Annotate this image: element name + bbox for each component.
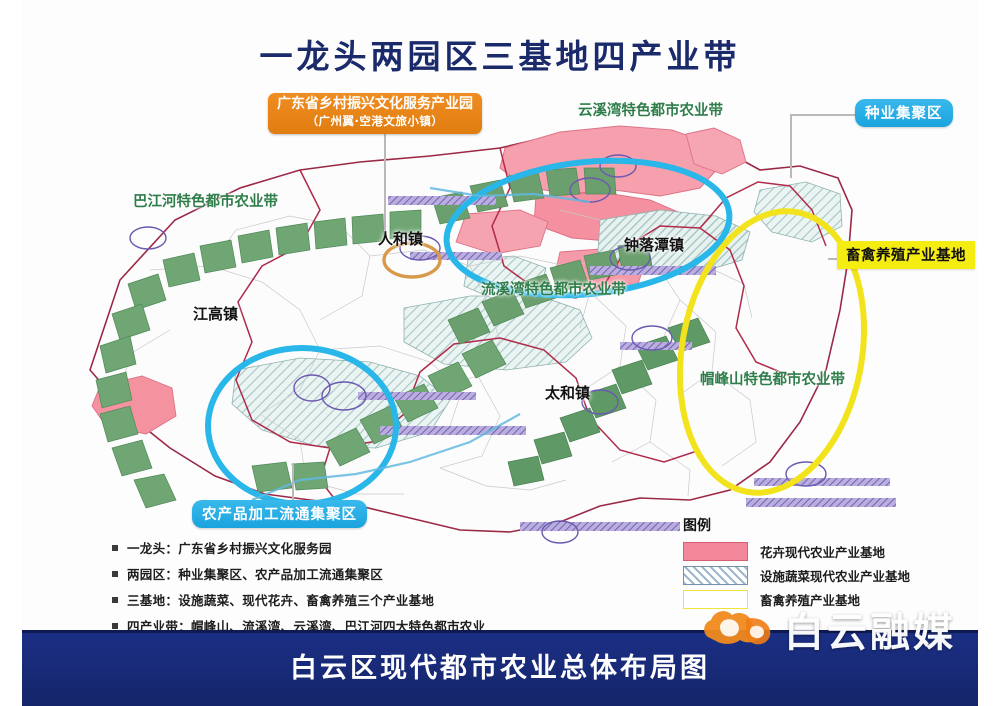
- culture-park-sub: （广州翼·空港文旅小镇）: [277, 114, 473, 129]
- right-bleed-edge: [978, 0, 1000, 706]
- town-label-jianggao: 江高镇: [193, 303, 238, 324]
- legend-title: 图例: [683, 515, 910, 535]
- town-label-zhongluotan: 钟落潭镇: [624, 234, 684, 255]
- town-label-renhe: 人和镇: [378, 228, 423, 249]
- baiyun-cloud-logo-icon: [700, 603, 778, 655]
- legend-item: 花卉现代农业产业基地: [683, 542, 910, 561]
- bullet-square-icon: [112, 597, 118, 603]
- map-poster: 一龙头两园区三基地四产业带: [0, 0, 1000, 706]
- callout-livestock-base[interactable]: 畜禽养殖产业基地: [837, 241, 975, 269]
- callout-belt-yunxiwan: 云溪湾特色都市农业带: [578, 99, 723, 120]
- leader-line-seed-zone-v: [790, 114, 792, 178]
- callout-culture-park[interactable]: 广东省乡村振兴文化服务产业园 （广州翼·空港文旅小镇）: [268, 93, 482, 134]
- town-label-taihe: 太和镇: [545, 382, 590, 403]
- callout-processing-zone[interactable]: 农产品加工流通集聚区: [192, 500, 367, 528]
- bullet-square-icon: [112, 623, 118, 629]
- callout-belt-bajianghe: 巴江河特色都市农业带: [133, 190, 278, 211]
- bullet-text: 三基地：设施蔬菜、现代花卉、畜禽养殖三个产业基地: [127, 590, 434, 609]
- watermark: 白云融媒: [700, 600, 956, 658]
- bullet-item: 三基地：设施蔬菜、现代花卉、畜禽养殖三个产业基地: [112, 590, 485, 609]
- leader-line-culture-park: [384, 124, 386, 240]
- legend-swatch-vegetable: [683, 566, 748, 585]
- summary-bullet-list: 一龙头：广东省乡村振兴文化服务园 两园区：种业集聚区、农产品加工流通集聚区 三基…: [112, 538, 485, 642]
- culture-park-main: 广东省乡村振兴文化服务产业园: [277, 97, 473, 112]
- legend-swatch-flower: [683, 542, 748, 561]
- callout-belt-liuxiwan: 流溪湾特色都市农业带: [481, 278, 626, 299]
- legend-label: 设施蔬菜现代农业产业基地: [760, 566, 910, 585]
- page-title: 一龙头两园区三基地四产业带: [0, 30, 1000, 78]
- bullet-item: 两园区：种业集聚区、农产品加工流通集聚区: [112, 564, 485, 583]
- bullet-text: 一龙头：广东省乡村振兴文化服务园: [127, 538, 332, 557]
- bullet-text: 两园区：种业集聚区、农产品加工流通集聚区: [127, 564, 383, 583]
- callout-seed-zone[interactable]: 种业集聚区: [855, 99, 953, 127]
- bullet-item: 一龙头：广东省乡村振兴文化服务园: [112, 538, 485, 557]
- left-bleed-edge: [0, 0, 22, 706]
- legend-item: 设施蔬菜现代农业产业基地: [683, 566, 910, 585]
- legend-label: 花卉现代农业产业基地: [760, 542, 885, 561]
- watermark-text: 白云融媒: [784, 600, 956, 658]
- callout-belt-maofengshan: 帽峰山特色都市农业带: [700, 368, 845, 389]
- bullet-square-icon: [112, 571, 118, 577]
- bullet-square-icon: [112, 545, 118, 551]
